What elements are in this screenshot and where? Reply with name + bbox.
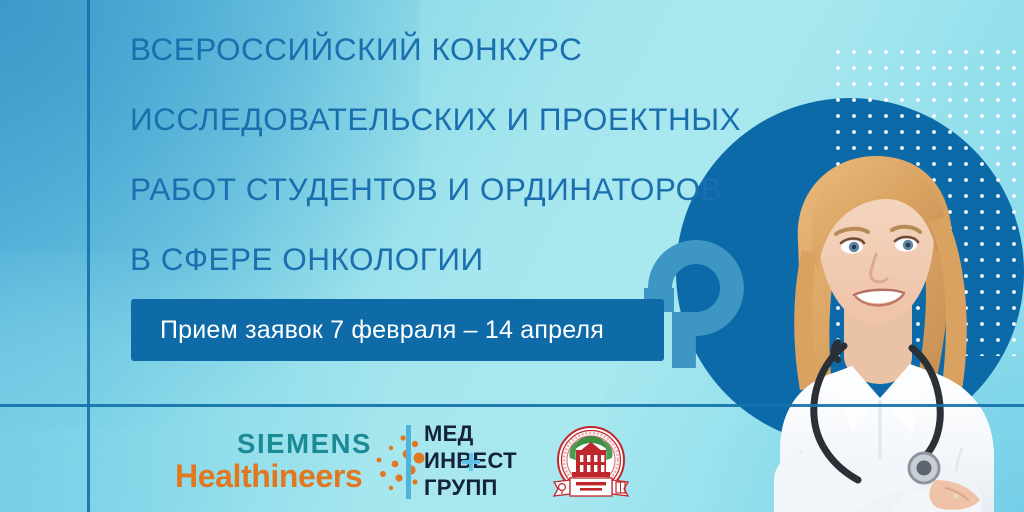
- med-invest-line-1: МЕД: [424, 420, 517, 447]
- headline-line-3: РАБОТ СТУДЕНТОВ И ОРДИНАТОРОВ: [130, 154, 820, 224]
- application-period-banner: Прием заявок 7 февраля – 14 апреля: [131, 299, 664, 361]
- med-invest-line-3: ГРУПП: [424, 474, 517, 501]
- headline-line-4: В СФЕРЕ ОНКОЛОГИИ: [130, 224, 820, 294]
- siemens-wordmark: SIEMENS: [237, 428, 372, 460]
- med-invest-line-2: ИНВЕСТ: [424, 447, 517, 474]
- med-invest-wordmark: МЕД ИНВЕСТ ГРУПП: [424, 420, 517, 501]
- vertical-bar-icon: [406, 425, 411, 499]
- headline-line-1: ВСЕРОССИЙСКИЙ КОНКУРС: [130, 14, 820, 84]
- logo-row: SIEMENS Healthineers: [120, 414, 680, 510]
- siemens-healthineers-logo: SIEMENS Healthineers: [175, 426, 415, 498]
- horizontal-grid-rule: [0, 404, 1024, 407]
- headline: ВСЕРОССИЙСКИЙ КОНКУРС ИССЛЕДОВАТЕЛЬСКИХ …: [130, 14, 820, 294]
- application-period-text: Прием заявок 7 февраля – 14 апреля: [131, 316, 604, 345]
- healthineers-wordmark: Healthineers: [175, 458, 362, 495]
- poster-banner: ВСЕРОССИЙСКИЙ КОНКУРС ИССЛЕДОВАТЕЛЬСКИХ …: [0, 0, 1024, 512]
- university-crest-emblem: [548, 424, 634, 502]
- med-invest-group-logo: МЕД ИНВЕСТ ГРУПП: [406, 420, 526, 504]
- vertical-grid-rule: [87, 0, 90, 512]
- headline-line-2: ИССЛЕДОВАТЕЛЬСКИХ И ПРОЕКТНЫХ: [130, 84, 820, 154]
